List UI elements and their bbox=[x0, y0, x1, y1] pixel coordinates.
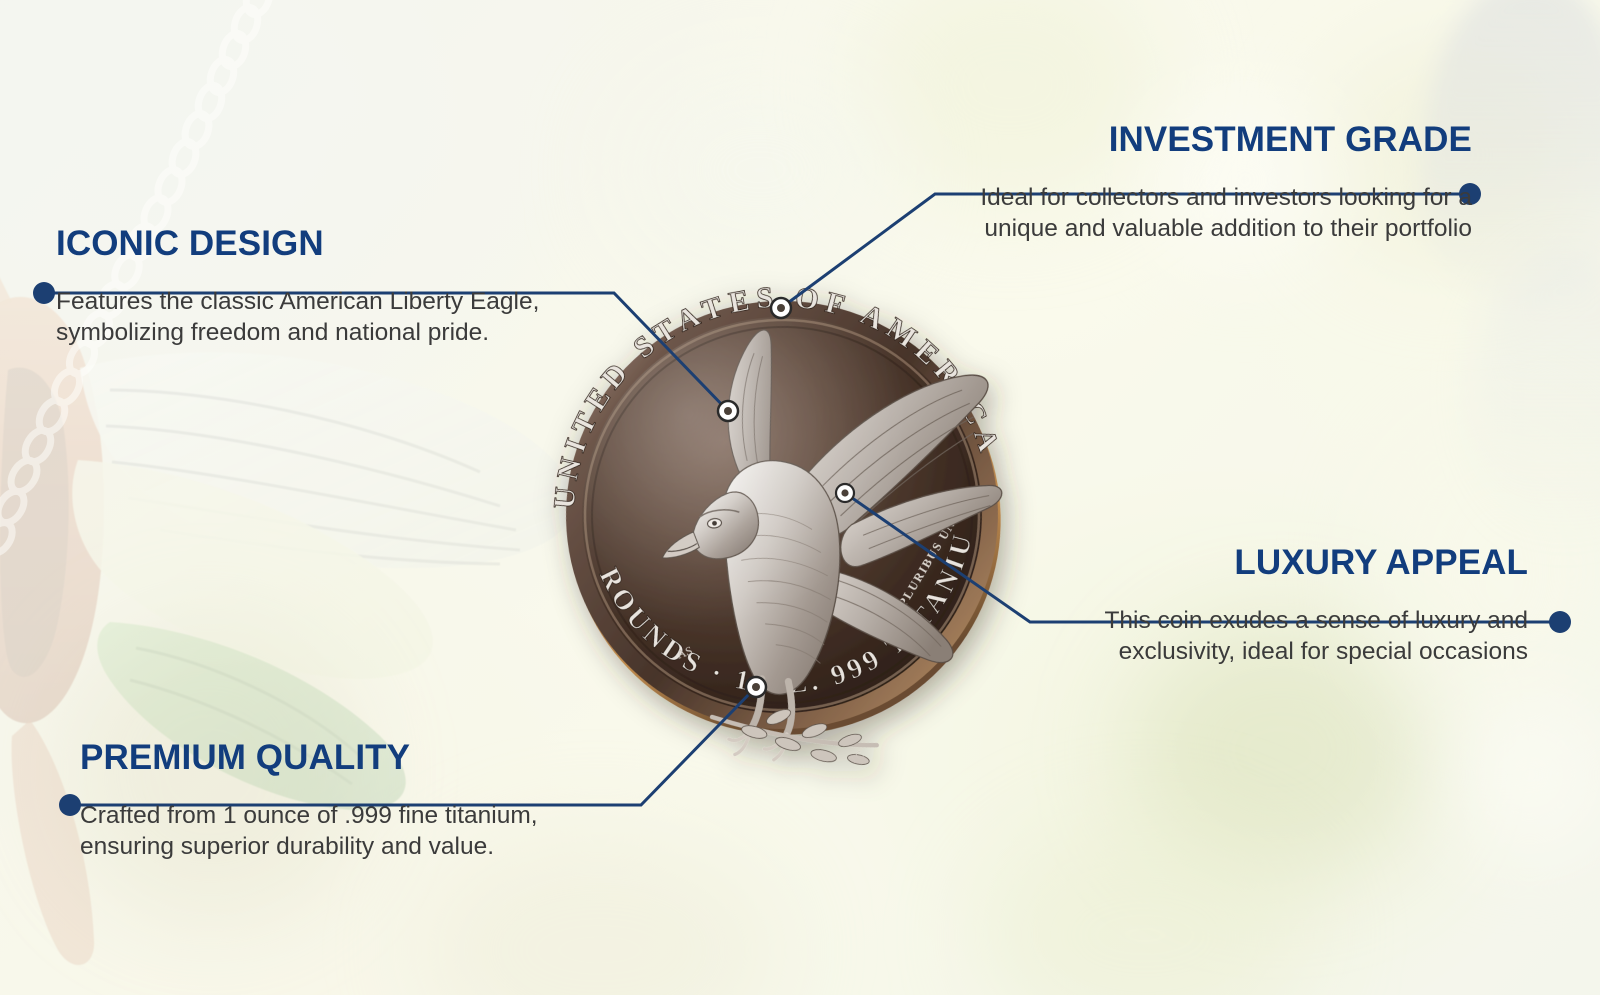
callout-body-premium-quality: Crafted from 1 ounce of .999 fine titani… bbox=[80, 801, 610, 863]
callout-title-investment-grade: INVESTMENT GRADE bbox=[960, 122, 1472, 159]
connector-dot-premium-quality bbox=[59, 794, 81, 816]
callout-body-investment-grade: Ideal for collectors and investors looki… bbox=[960, 183, 1472, 245]
callout-iconic-design: ICONIC DESIGN Features the classic Ameri… bbox=[56, 226, 556, 348]
callout-title-iconic-design: ICONIC DESIGN bbox=[56, 226, 556, 263]
callout-luxury-appeal: LUXURY APPEAL This coin exudes a sense o… bbox=[1050, 545, 1528, 667]
callout-body-iconic-design: Features the classic American Liberty Ea… bbox=[56, 287, 556, 349]
connector-dot-luxury-appeal bbox=[1549, 611, 1571, 633]
connector-dot-iconic-design bbox=[33, 282, 55, 304]
callout-body-luxury-appeal: This coin exudes a sense of luxury and e… bbox=[1050, 606, 1528, 668]
callout-investment-grade: INVESTMENT GRADE Ideal for collectors an… bbox=[960, 122, 1472, 244]
callout-premium-quality: PREMIUM QUALITY Crafted from 1 ounce of … bbox=[80, 740, 610, 862]
callout-title-luxury-appeal: LUXURY APPEAL bbox=[1050, 545, 1528, 582]
callout-title-premium-quality: PREMIUM QUALITY bbox=[80, 740, 610, 777]
